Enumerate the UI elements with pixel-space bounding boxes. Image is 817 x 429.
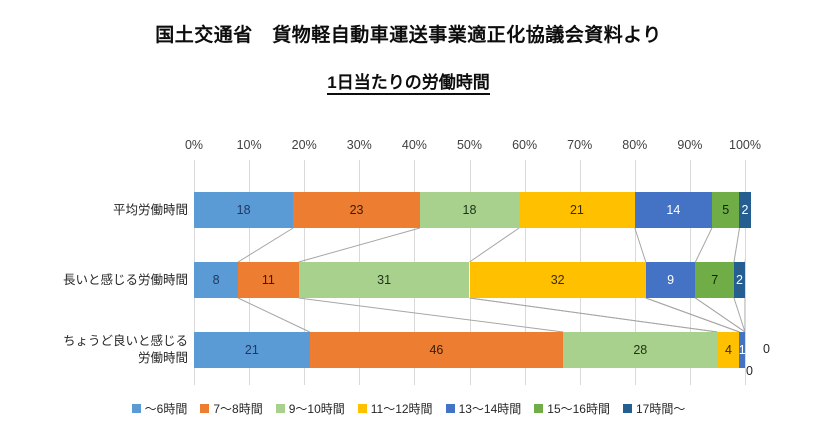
category-label-2: 長いと感じる労働時間 [10,272,188,289]
category-label-1: 平均労働時間 [10,202,188,219]
connector-line [695,298,745,332]
bar-row: 21462841 [194,332,745,368]
axis-tick-label: 20% [281,138,327,152]
legend-item[interactable]: 15〜16時間 [534,400,610,417]
bar-value-label: 9 [667,273,674,287]
bar-value-label: 31 [377,273,391,287]
connector-line [470,298,718,332]
axis-tick-label: 100% [722,138,768,152]
bar-segment[interactable]: 4 [717,332,739,368]
legend-item[interactable]: 7〜8時間 [200,400,262,417]
bar-value-label: 46 [429,343,443,357]
legend-swatch-icon [358,404,367,413]
bar-segment[interactable]: 8 [194,262,238,298]
bar-segment[interactable]: 31 [299,262,470,298]
legend-swatch-icon [623,404,632,413]
legend-item[interactable]: 9〜10時間 [276,400,345,417]
connector-line [734,298,745,332]
bar-row: 8113132972 [194,262,745,298]
bar-value-label: 18 [237,203,251,217]
connector-line [635,228,646,262]
bar-segment[interactable]: 1 [739,332,745,368]
legend-label: 17時間〜 [636,400,685,417]
legend-swatch-icon [200,404,209,413]
bar-segment[interactable]: 11 [238,262,299,298]
bar-segment[interactable]: 32 [470,262,646,298]
bar-segment[interactable]: 46 [310,332,563,368]
chart-container: 国土交通省 貨物軽自動車運送事業適正化協議会資料より 1日当たりの労働時間 平均… [0,0,817,429]
legend-label: 13〜14時間 [459,400,522,417]
bar-value-label: 14 [666,203,680,217]
plot-area: 182318211452811313297221462841 0%10%20%3… [194,160,745,385]
legend-label: 11〜12時間 [371,400,433,417]
bar-value-label: 21 [570,203,584,217]
legend-item[interactable]: 17時間〜 [623,400,685,417]
bar-value-label: 2 [742,203,749,217]
bar-segment[interactable]: 2 [734,262,745,298]
bar-segment[interactable]: 28 [563,332,717,368]
connector-line [470,298,718,332]
axis-tick-label: 10% [226,138,272,152]
axis-tick-label: 40% [391,138,437,152]
bar-segment[interactable]: 21 [519,192,635,228]
bar-segment[interactable]: 23 [293,192,420,228]
legend-item[interactable]: 11〜12時間 [358,400,433,417]
legend-label: 7〜8時間 [213,400,262,417]
axis-tick-label: 80% [612,138,658,152]
connector-line [470,228,520,262]
legend-label: 15〜16時間 [547,400,610,417]
connector-line [646,298,740,332]
legend-swatch-icon [276,404,285,413]
category-label-3: ちょうど良いと感じる労働時間 [10,333,188,367]
axis-tick-label: 90% [667,138,713,152]
bar-value-label: 11 [262,273,275,287]
bar-value-label: 21 [245,343,259,357]
axis-tick-label: 70% [557,138,603,152]
category-axis: 平均労働時間長いと感じる労働時間ちょうど良いと感じる労働時間 [8,160,188,385]
bar-value-label: 5 [722,203,729,217]
bar-value-label: 32 [551,273,565,287]
bar-segment[interactable]: 18 [194,192,293,228]
connector-line [238,228,293,262]
legend-swatch-icon [446,404,455,413]
legend-swatch-icon [132,404,141,413]
bar-value-label: 7 [711,273,718,287]
bar-row: 182318211452 [194,192,745,228]
legend-item[interactable]: 13〜14時間 [446,400,522,417]
legend-label: 9〜10時間 [289,400,345,417]
bar-segment[interactable]: 7 [695,262,734,298]
axis-tick-label: 30% [336,138,382,152]
connector-line [646,298,740,332]
bar-value-label: 23 [350,203,364,217]
connector-line [695,298,745,332]
axis-tick-label: 60% [502,138,548,152]
bar-value-label: 18 [463,203,477,217]
bar-segment[interactable]: 9 [646,262,696,298]
legend-swatch-icon [534,404,543,413]
bar-segment[interactable]: 5 [712,192,740,228]
axis-tick-label: 50% [447,138,493,152]
bar-value-label: 1 [739,343,746,357]
outside-value-label: 0 [763,342,770,356]
connector-line [734,228,740,262]
chart-title-text: 1日当たりの労働時間 [327,73,489,95]
chart-legend: 〜6時間7〜8時間9〜10時間11〜12時間13〜14時間15〜16時間17時間… [0,400,817,417]
bar-segment[interactable]: 18 [420,192,519,228]
connector-line [299,298,563,332]
page-title: 国土交通省 貨物軽自動車運送事業適正化協議会資料より [0,20,817,47]
bar-segment[interactable]: 2 [739,192,750,228]
bar-value-label: 28 [633,343,647,357]
chart-title: 1日当たりの労働時間 [0,68,817,93]
legend-label: 〜6時間 [145,400,188,417]
connector-line [695,228,712,262]
bar-value-label: 4 [725,343,732,357]
axis-tick-label: 0% [171,138,217,152]
bar-segment[interactable]: 14 [635,192,712,228]
legend-item[interactable]: 〜6時間 [132,400,188,417]
bar-value-label: 2 [736,273,743,287]
bar-value-label: 8 [213,273,220,287]
outside-value-label: 0 [746,364,753,378]
bar-segment[interactable]: 21 [194,332,310,368]
